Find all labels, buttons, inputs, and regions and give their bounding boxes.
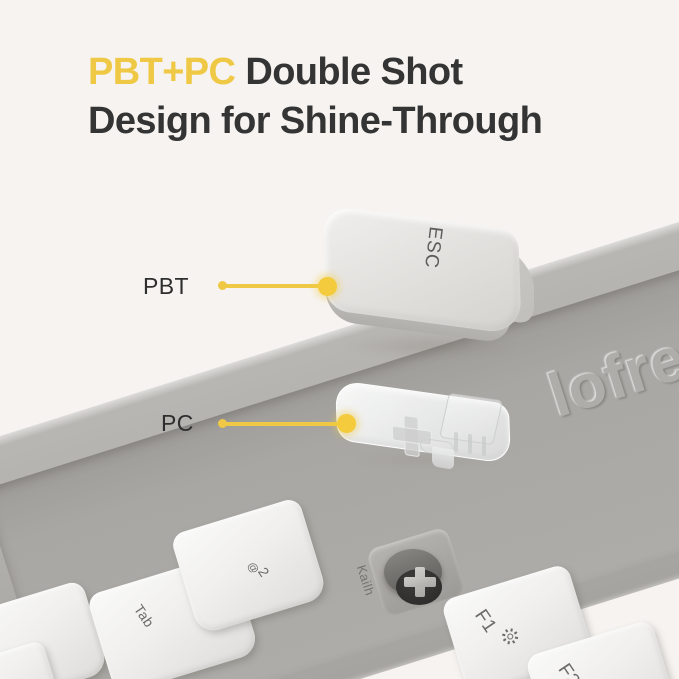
keycap-f2-legend: F2	[553, 660, 584, 679]
keycap-f1-legend: F1	[469, 606, 500, 638]
callout-label-pbt: PBT	[143, 273, 189, 300]
brightness-icon	[499, 625, 521, 647]
brightness-ray	[512, 640, 515, 643]
product-feature-graphic: PBT+PC Double Shot Design for Shine-Thro…	[0, 0, 679, 679]
brightness-ray	[505, 629, 508, 632]
callout-leader-line-pc	[222, 422, 346, 426]
brightness-ray	[503, 639, 506, 642]
switch-housing	[384, 549, 442, 595]
callout-leader-dot-pc	[218, 419, 227, 428]
pc-clip-leg	[454, 432, 458, 453]
headline-line-2: Design for Shine-Through	[88, 97, 648, 146]
brightness-ray	[514, 631, 517, 634]
switch-cross-stem-icon	[404, 567, 436, 597]
headline-line-1: PBT+PC Double Shot	[88, 48, 648, 97]
callout-label-pc: PC	[161, 410, 194, 437]
pc-layer-tail	[432, 446, 454, 470]
mechanical-switch: Kailh	[378, 533, 450, 607]
callout-leader-dot-pbt	[218, 281, 227, 290]
brightness-ray	[508, 641, 510, 644]
pc-clip-leg	[482, 436, 486, 457]
pc-clip-leg	[468, 434, 472, 455]
headline-accent-text: PBT+PC	[88, 51, 235, 93]
headline-line-1-rest: Double Shot	[235, 51, 462, 93]
pc-translucent-under-layer	[336, 388, 526, 472]
brightness-ray	[515, 637, 518, 639]
keycap-tab-legend: Tab	[131, 601, 158, 630]
brightness-ray	[502, 634, 505, 636]
callout-leader-line-pbt	[222, 284, 328, 288]
brightness-ray	[510, 628, 512, 631]
callout-anchor-dot-pc	[337, 414, 356, 433]
page-title: PBT+PC Double Shot Design for Shine-Thro…	[88, 48, 648, 147]
pbt-keycap-top-layer: ESC	[318, 214, 536, 364]
callout-anchor-dot-pbt	[318, 277, 337, 296]
